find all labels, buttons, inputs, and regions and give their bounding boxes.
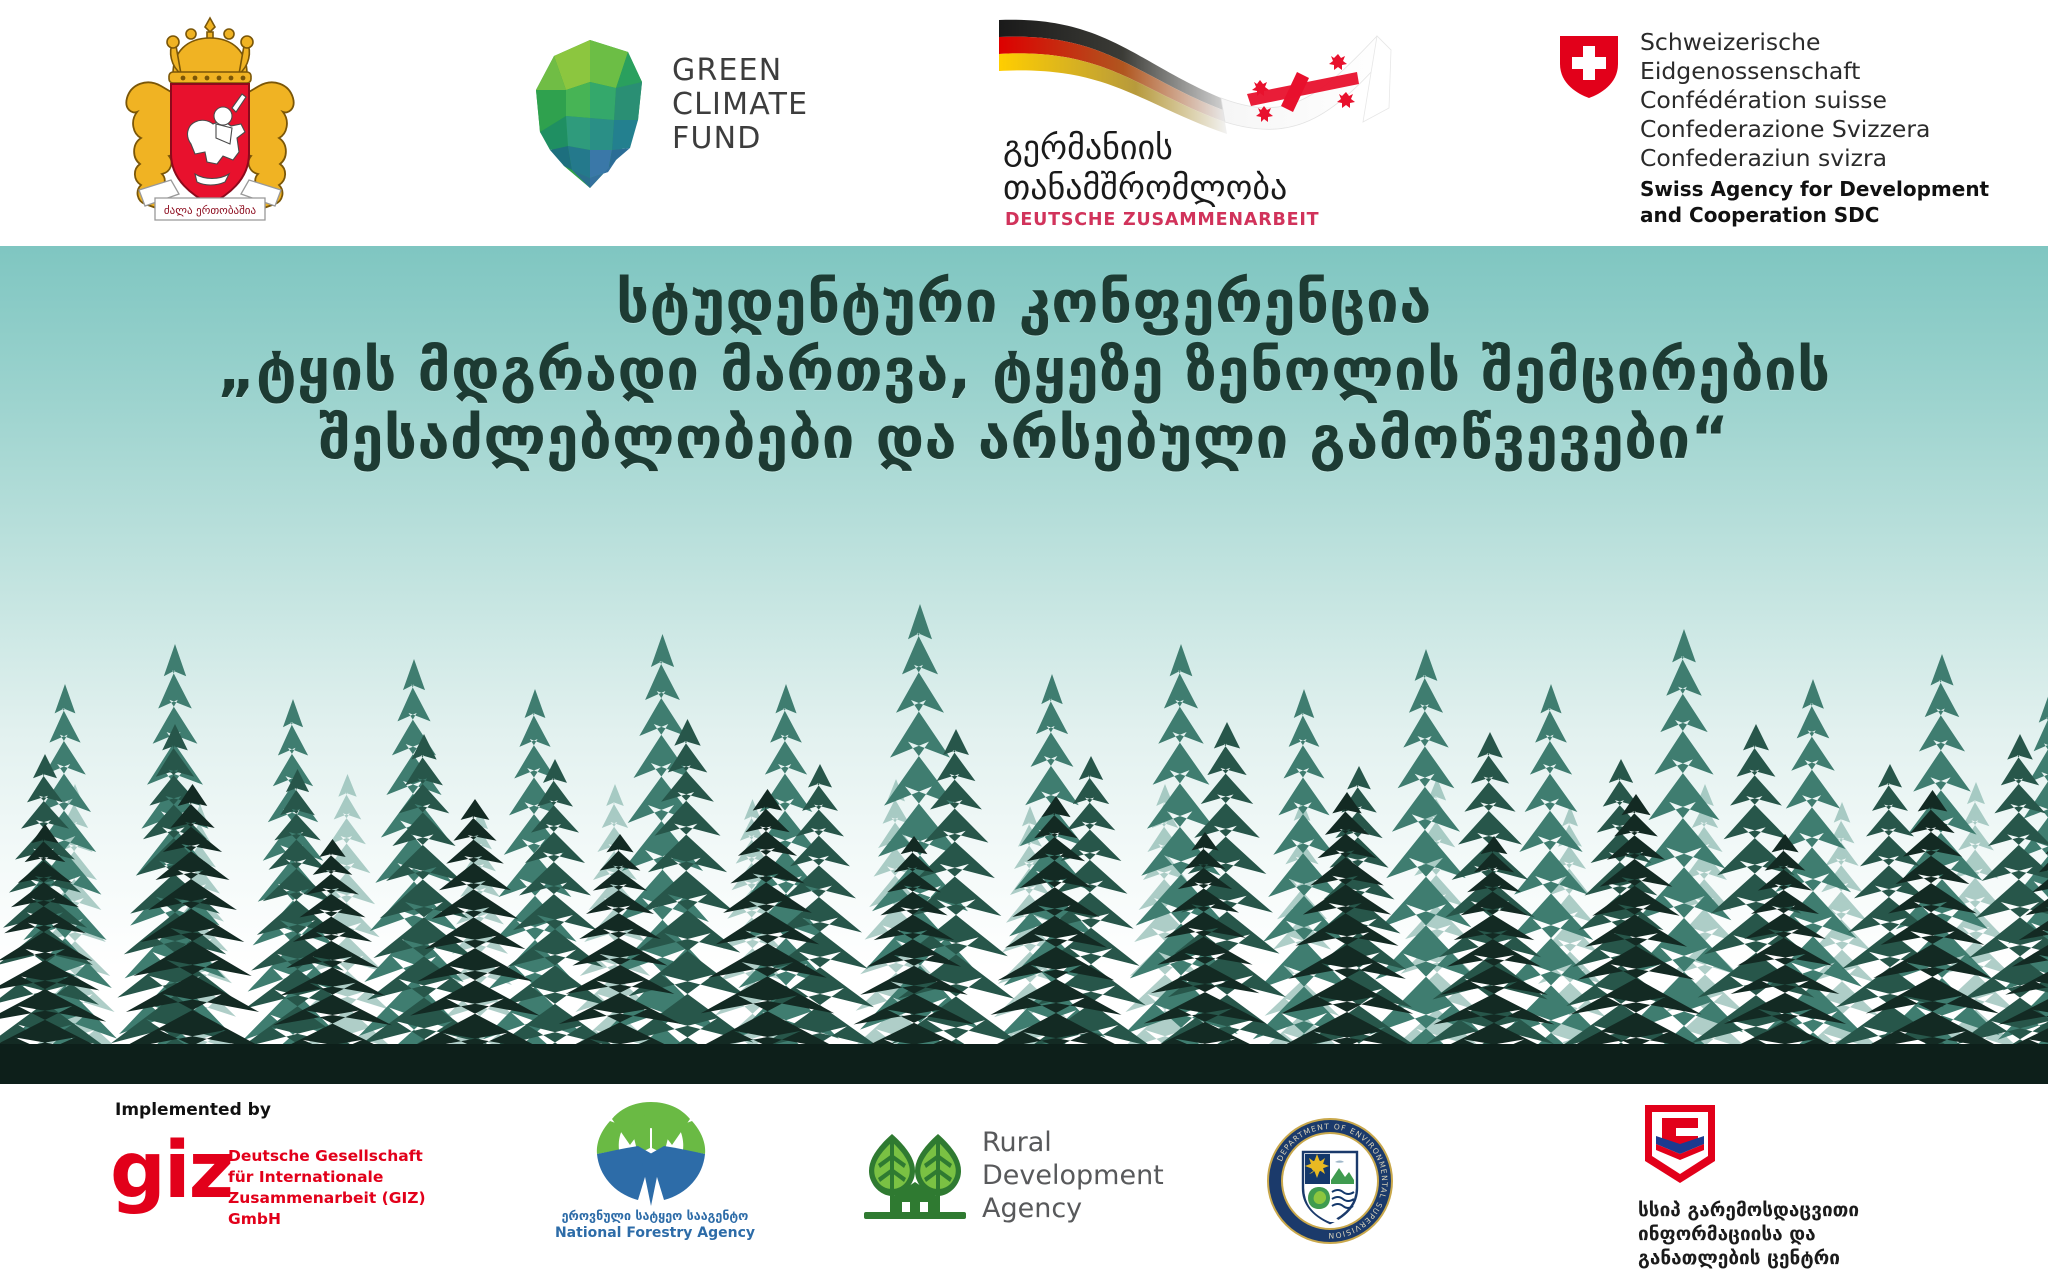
german-cooperation-georgian-line-2: თანამშრომლობა bbox=[1003, 168, 1303, 208]
swiss-line-rm: Confederaziun svizra bbox=[1640, 144, 2028, 173]
rural-development-agency-logo: Rural Development Agency bbox=[860, 1126, 1200, 1236]
gcf-line-1: GREEN bbox=[672, 54, 808, 88]
national-forestry-agency-logo: ეროვნული სატყეო სააგენტო National Forest… bbox=[540, 1096, 770, 1264]
title-line-1: სტუდენტური კონფერენცია bbox=[0, 268, 2048, 336]
german-cooperation-georgian-text: გერმანიის თანამშრომლობა bbox=[1003, 128, 1303, 208]
rda-line-2: Development bbox=[982, 1159, 1164, 1192]
german-cooperation-georgian-line-1: გერმანიის bbox=[1003, 128, 1303, 168]
department-environmental-supervision-logo: DEPARTMENT OF ENVIRONMENTAL SUPERVISION bbox=[1265, 1116, 1395, 1246]
rda-line-3: Agency bbox=[982, 1192, 1164, 1225]
giz-subtitle: Deutsche Gesellschaft für Internationale… bbox=[228, 1146, 430, 1230]
nfa-tree-circle-icon bbox=[586, 1096, 716, 1206]
swiss-line-it: Confederazione Svizzera bbox=[1640, 115, 2028, 144]
german-cooperation-logo: გერმანიის თანამშრომლობა DEUTSCHE ZUSAMME… bbox=[985, 10, 1405, 235]
rda-line-1: Rural bbox=[982, 1126, 1164, 1159]
georgia-coat-of-arms-icon: ძალა ერთობაშია bbox=[95, 12, 325, 232]
swiss-agency-line-1: Swiss Agency for Development bbox=[1640, 176, 1989, 202]
deutsche-zusammenarbeit-label: DEUTSCHE ZUSAMMENARBEIT bbox=[1005, 210, 1319, 230]
giz-subtitle-line-3: Zusammenarbeit (GIZ) GmbH bbox=[228, 1188, 430, 1230]
footer-logo-bar: Implemented by giz Deutsche Gesellschaft… bbox=[0, 1084, 2048, 1271]
green-climate-fund-logo: GREEN CLIMATE FUND bbox=[520, 30, 840, 220]
environmental-information-center-logo: სსიპ გარემოსდაცვითი ინფორმაციისა და განა… bbox=[1590, 1102, 1920, 1267]
implemented-by-label: Implemented by bbox=[115, 1100, 271, 1120]
swiss-agency-label: Swiss Agency for Development and Coopera… bbox=[1640, 176, 1989, 228]
eiec-book-shield-icon bbox=[1642, 1102, 1718, 1186]
title-line-3: შესაძლებლობები და არსებული გამოწვევები“ bbox=[0, 404, 2048, 472]
gcf-line-2: CLIMATE bbox=[672, 88, 808, 122]
swiss-language-lines: Schweizerische Eidgenossenschaft Confédé… bbox=[1640, 28, 2028, 173]
eiec-line-1: სსიპ გარემოსდაცვითი bbox=[1638, 1198, 1920, 1222]
rda-leaf-house-icon bbox=[860, 1128, 970, 1220]
nfa-georgian-label: ეროვნული სატყეო სააგენტო bbox=[540, 1208, 770, 1224]
eiec-line-3: განათლების ცენტრი bbox=[1638, 1246, 1920, 1270]
top-logo-bar: ძალა ერთობაშია bbox=[0, 0, 2048, 246]
rda-wordmark: Rural Development Agency bbox=[982, 1126, 1164, 1225]
giz-subtitle-line-2: für Internationale bbox=[228, 1167, 430, 1188]
swiss-agency-line-2: and Cooperation SDC bbox=[1640, 202, 1989, 228]
swiss-line-de: Schweizerische Eidgenossenschaft bbox=[1640, 28, 2028, 86]
giz-logo: giz Deutsche Gesellschaft für Internatio… bbox=[110, 1132, 430, 1222]
page-title: სტუდენტური კონფერენცია „ტყის მდგრადი მარ… bbox=[0, 268, 2048, 472]
giz-subtitle-line-1: Deutsche Gesellschaft bbox=[228, 1146, 430, 1167]
swiss-shield-icon bbox=[1558, 34, 1620, 100]
nfa-english-label: National Forestry Agency bbox=[540, 1225, 770, 1242]
forest-silhouette-illustration bbox=[0, 484, 2048, 1084]
eiec-line-2: ინფორმაციისა და bbox=[1638, 1222, 1920, 1246]
title-line-2: „ტყის მდგრადი მართვა, ტყეზე ზენოლის შემც… bbox=[0, 336, 2048, 404]
giz-wordmark: giz bbox=[110, 1132, 232, 1210]
swiss-confederation-logo: Schweizerische Eidgenossenschaft Confédé… bbox=[1558, 28, 2028, 228]
gcf-line-3: FUND bbox=[672, 122, 808, 156]
gcf-polygon-globe-icon bbox=[520, 38, 660, 193]
coat-of-arms-motto: ძალა ერთობაშია bbox=[164, 204, 257, 217]
gcf-wordmark: GREEN CLIMATE FUND bbox=[672, 54, 808, 156]
swiss-line-fr: Confédération suisse bbox=[1640, 86, 2028, 115]
conference-poster: ძალა ერთობაშია bbox=[0, 0, 2048, 1271]
eiec-label: სსიპ გარემოსდაცვითი ინფორმაციისა და განა… bbox=[1590, 1198, 1920, 1270]
hero-banner: სტუდენტური კონფერენცია „ტყის მდგრადი მარ… bbox=[0, 246, 2048, 1084]
